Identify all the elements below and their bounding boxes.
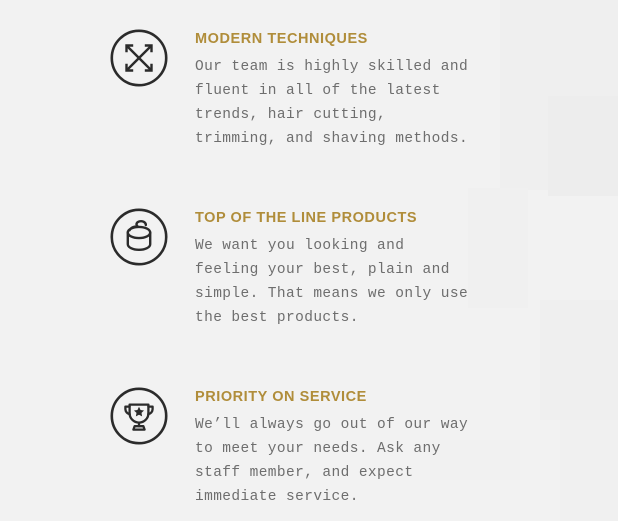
feature-item-top-of-the-line-products: TOP OF THE LINE PRODUCTS We want you loo… (0, 208, 618, 330)
feature-item-modern-techniques: MODERN TECHNIQUES Our team is highly ski… (0, 29, 618, 151)
feature-title: MODERN TECHNIQUES (195, 30, 468, 48)
feature-body: TOP OF THE LINE PRODUCTS We want you loo… (195, 208, 468, 330)
feature-description: We want you looking and feeling your bes… (195, 234, 468, 330)
feature-title: PRIORITY ON SERVICE (195, 388, 468, 406)
feature-icon-wrap (108, 208, 170, 266)
feature-icon-wrap (108, 29, 170, 87)
feature-item-priority-on-service: PRIORITY ON SERVICE We’ll always go out … (0, 387, 618, 509)
feature-list: MODERN TECHNIQUES Our team is highly ski… (0, 0, 618, 509)
feature-body: PRIORITY ON SERVICE We’ll always go out … (195, 387, 468, 509)
feature-title: TOP OF THE LINE PRODUCTS (195, 209, 468, 227)
crossed-arrows-icon (110, 29, 168, 87)
feature-description: We’ll always go out of our way to meet y… (195, 413, 468, 509)
feature-description: Our team is highly skilled and fluent in… (195, 55, 468, 151)
feature-icon-wrap (108, 387, 170, 445)
cream-jar-icon (110, 208, 168, 266)
feature-body: MODERN TECHNIQUES Our team is highly ski… (195, 29, 468, 151)
trophy-icon (110, 387, 168, 445)
